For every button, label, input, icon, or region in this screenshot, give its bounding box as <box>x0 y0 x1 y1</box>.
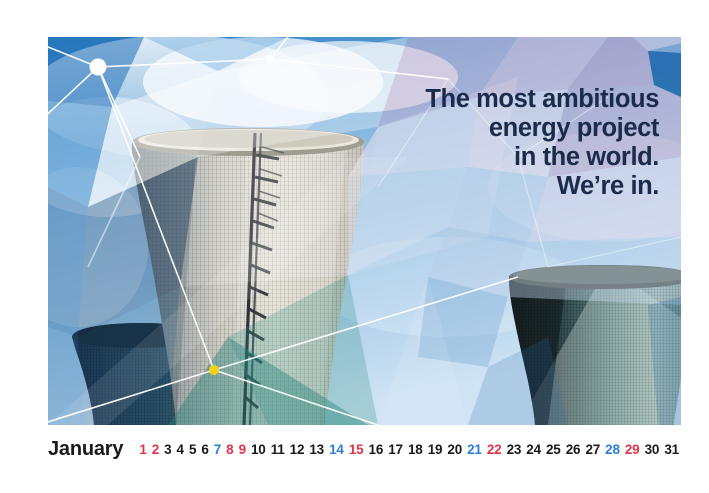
calendar-page: The most ambitious energy project in the… <box>0 0 709 493</box>
day-number-18[interactable]: 18 <box>408 442 423 457</box>
day-number-31[interactable]: 31 <box>664 442 679 457</box>
day-number-21[interactable]: 21 <box>467 442 482 457</box>
day-number-10[interactable]: 10 <box>251 442 266 457</box>
headline-line-2: energy project <box>359 114 659 143</box>
day-number-26[interactable]: 26 <box>566 442 581 457</box>
day-number-23[interactable]: 23 <box>507 442 522 457</box>
day-number-24[interactable]: 24 <box>526 442 541 457</box>
day-number-28[interactable]: 28 <box>605 442 620 457</box>
day-number-1[interactable]: 1 <box>139 442 146 457</box>
day-number-4[interactable]: 4 <box>177 442 184 457</box>
day-number-12[interactable]: 12 <box>290 442 305 457</box>
node-top-left-dot <box>90 59 107 76</box>
node-highlight-dot <box>209 365 219 375</box>
day-number-6[interactable]: 6 <box>201 442 208 457</box>
day-number-8[interactable]: 8 <box>226 442 233 457</box>
day-number-27[interactable]: 27 <box>585 442 600 457</box>
day-number-22[interactable]: 22 <box>487 442 502 457</box>
day-number-17[interactable]: 17 <box>388 442 403 457</box>
headline-line-4: We’re in. <box>359 172 659 201</box>
day-number-19[interactable]: 19 <box>428 442 443 457</box>
day-number-7[interactable]: 7 <box>214 442 221 457</box>
day-number-16[interactable]: 16 <box>369 442 384 457</box>
day-number-9[interactable]: 9 <box>239 442 246 457</box>
headline-line-3: in the world. <box>359 143 659 172</box>
hero-headline: The most ambitious energy project in the… <box>359 85 659 201</box>
date-strip: January 12345678910111213141516171819202… <box>48 432 681 466</box>
day-number-3[interactable]: 3 <box>164 442 171 457</box>
day-number-25[interactable]: 25 <box>546 442 561 457</box>
node-top-right-dot <box>266 55 275 64</box>
hero-photo: The most ambitious energy project in the… <box>48 37 681 425</box>
day-number-20[interactable]: 20 <box>447 442 462 457</box>
day-number-2[interactable]: 2 <box>152 442 159 457</box>
day-number-14[interactable]: 14 <box>329 442 344 457</box>
day-number-30[interactable]: 30 <box>645 442 660 457</box>
month-label: January <box>48 438 123 461</box>
day-number-15[interactable]: 15 <box>349 442 364 457</box>
day-number-5[interactable]: 5 <box>189 442 196 457</box>
day-number-29[interactable]: 29 <box>625 442 640 457</box>
headline-line-1: The most ambitious <box>359 85 659 114</box>
day-number-13[interactable]: 13 <box>309 442 324 457</box>
day-number-11[interactable]: 11 <box>271 442 285 457</box>
day-number-list: 1234567891011121314151617181920212223242… <box>139 442 681 457</box>
